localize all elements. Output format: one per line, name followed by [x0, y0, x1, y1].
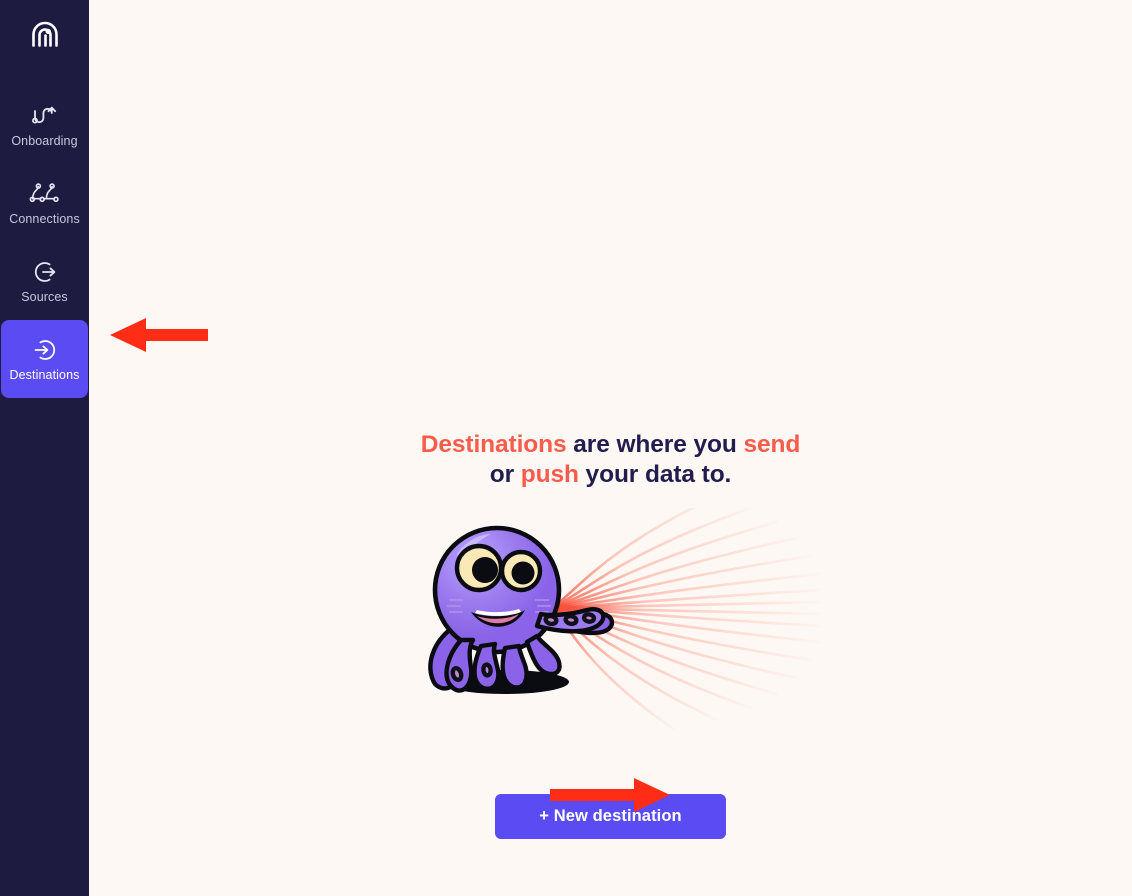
sidebar-item-label: Destinations	[10, 369, 80, 382]
winding-path-arrow-icon	[28, 103, 62, 129]
headline-text-2: or	[490, 461, 521, 488]
sidebar-item-onboarding[interactable]: Onboarding	[1, 86, 88, 164]
purple-octopus-mascot-with-data-rays	[401, 508, 821, 748]
app-root: Onboarding	[0, 0, 1132, 896]
headline-send: send	[743, 431, 800, 458]
headline-text-1: are where you	[567, 431, 744, 458]
sidebar-item-destinations[interactable]: Destinations	[1, 320, 88, 398]
octopus-head	[435, 528, 559, 652]
rudderstack-logo	[24, 14, 66, 61]
new-destination-button[interactable]: + New destination	[495, 794, 726, 839]
circle-arrow-in-icon	[28, 337, 62, 363]
empty-state: Destinations are where you send or push …	[89, 430, 1132, 839]
sidebar: Onboarding	[0, 0, 89, 896]
logo-wrap[interactable]	[0, 0, 89, 74]
sidebar-item-label: Sources	[21, 291, 68, 304]
sidebar-item-label: Connections	[9, 213, 80, 226]
headline-destinations: Destinations	[421, 431, 567, 458]
sidebar-item-connections[interactable]: Connections	[1, 164, 88, 242]
page-headline: Destinations are where you send or push …	[421, 430, 801, 490]
sidebar-item-sources[interactable]: Sources	[1, 242, 88, 320]
node-graph-icon	[28, 181, 62, 207]
sidebar-nav-list: Onboarding	[0, 74, 89, 398]
headline-push: push	[521, 461, 579, 488]
main-content: Destinations are where you send or push …	[89, 0, 1132, 896]
sidebar-item-label: Onboarding	[11, 135, 77, 148]
headline-text-3: your data to.	[579, 461, 731, 488]
circle-arrow-out-icon	[28, 259, 62, 285]
